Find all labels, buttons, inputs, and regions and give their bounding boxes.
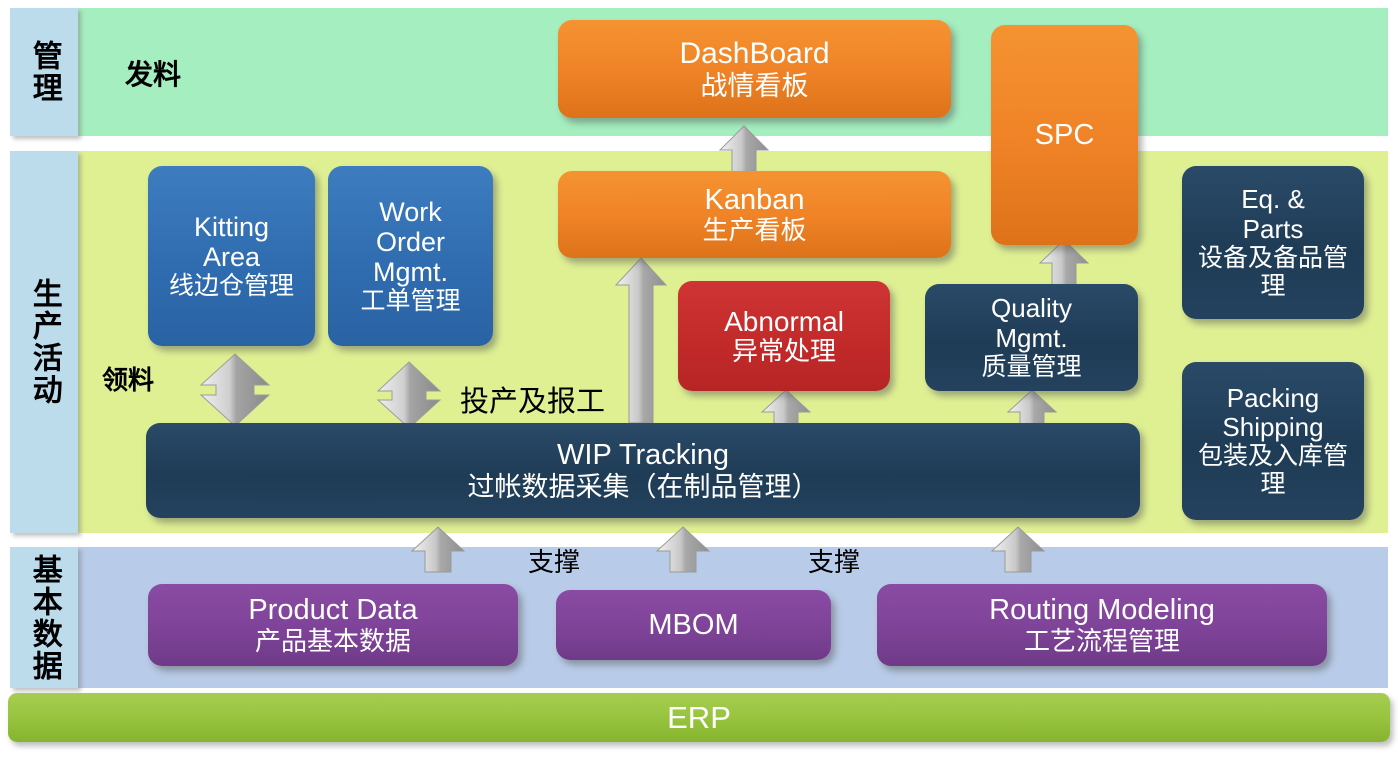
box-kanban-en: Kanban — [705, 184, 805, 216]
box-kitting-area-en: Kitting Area — [194, 212, 269, 272]
row-label-production: 生产活动 — [10, 151, 78, 533]
box-abnormal-en: Abnormal — [724, 306, 844, 337]
box-quality-mgmt[interactable]: Quality Mgmt. 质量管理 — [925, 284, 1138, 391]
box-product-data[interactable]: Product Data 产品基本数据 — [148, 584, 518, 666]
box-quality-mgmt-en: Quality Mgmt. — [991, 294, 1072, 352]
box-kitting-area[interactable]: Kitting Area 线边仓管理 — [148, 166, 315, 346]
arrow-quality-to-spc — [1038, 238, 1090, 286]
box-routing-modeling-en: Routing Modeling — [989, 594, 1215, 626]
label-support-2: 支撑 — [808, 542, 860, 579]
box-work-order-mgmt[interactable]: Work Order Mgmt. 工单管理 — [328, 166, 493, 346]
label-support-1: 支撑 — [528, 542, 580, 579]
box-product-data-cn: 产品基本数据 — [255, 627, 411, 656]
row-label-management: 管理 — [10, 8, 78, 136]
label-production-report: 投产及报工 — [460, 378, 605, 420]
row-label-management-text: 管理 — [28, 40, 60, 104]
label-issue-material: 发料 — [125, 53, 181, 93]
box-kanban[interactable]: Kanban 生产看板 — [558, 171, 951, 258]
box-spc[interactable]: SPC — [991, 25, 1138, 245]
box-mbom[interactable]: MBOM — [556, 590, 831, 660]
arrow-workorder-wip-bidirectional — [375, 360, 443, 430]
box-routing-modeling[interactable]: Routing Modeling 工艺流程管理 — [877, 584, 1327, 666]
box-abnormal[interactable]: Abnormal 异常处理 — [678, 281, 890, 391]
label-pick-material: 领料 — [102, 360, 154, 397]
box-dashboard-en: DashBoard — [679, 37, 829, 71]
box-spc-en: SPC — [1035, 119, 1095, 151]
arrow-productdata-to-wip — [410, 525, 466, 573]
arrow-wip-to-kanban — [613, 255, 669, 425]
box-mbom-en: MBOM — [648, 609, 738, 641]
box-packing-shipping-cn: 包装及入库管理 — [1188, 442, 1358, 498]
arrow-kitting-wip-bidirectional — [198, 352, 272, 428]
box-erp-label: ERP — [667, 700, 731, 736]
box-product-data-en: Product Data — [248, 594, 417, 626]
box-dashboard-cn: 战情看板 — [701, 71, 809, 101]
box-wip-tracking-en: WIP Tracking — [557, 439, 729, 471]
box-packing-shipping[interactable]: Packing Shipping 包装及入库管理 — [1182, 362, 1364, 520]
box-work-order-mgmt-cn: 工单管理 — [360, 287, 460, 315]
box-kanban-cn: 生产看板 — [702, 216, 806, 245]
arrow-mbom-to-wip — [655, 525, 711, 573]
row-label-basicdata-text: 基本数据 — [28, 554, 60, 682]
box-routing-modeling-cn: 工艺流程管理 — [1024, 627, 1180, 656]
box-kitting-area-cn: 线边仓管理 — [169, 272, 294, 300]
box-work-order-mgmt-en: Work Order Mgmt. — [373, 197, 448, 288]
box-dashboard[interactable]: DashBoard 战情看板 — [558, 20, 951, 118]
box-equipment-parts[interactable]: Eq. & Parts 设备及备品管理 — [1182, 166, 1364, 319]
box-equipment-parts-cn: 设备及备品管理 — [1188, 244, 1358, 300]
box-wip-tracking[interactable]: WIP Tracking 过帐数据采集（在制品管理） — [146, 423, 1140, 518]
box-erp[interactable]: ERP — [8, 693, 1390, 742]
row-label-basicdata: 基本数据 — [10, 547, 78, 688]
row-label-production-text: 生产活动 — [28, 278, 60, 406]
box-wip-tracking-cn: 过帐数据采集（在制品管理） — [468, 472, 819, 502]
box-equipment-parts-en: Eq. & Parts — [1241, 185, 1305, 243]
box-abnormal-cn: 异常处理 — [732, 337, 836, 366]
arrow-routing-to-wip — [990, 525, 1046, 573]
box-packing-shipping-en: Packing Shipping — [1222, 384, 1323, 442]
box-quality-mgmt-cn: 质量管理 — [981, 353, 1081, 381]
mes-architecture-diagram: 管理 发料 生产活动 基本数据 — [0, 0, 1398, 773]
